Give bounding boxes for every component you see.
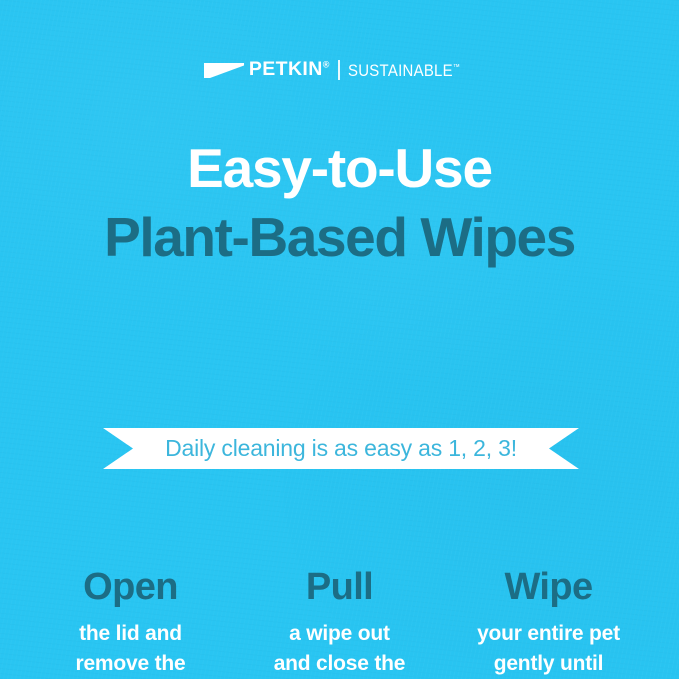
step-open: Open the lid and remove the fresh seal: [28, 565, 233, 679]
step-body: your entire pet gently until they’re cle…: [446, 619, 651, 679]
brand-lockup: PETKIN® SUSTAINABLE™: [0, 57, 679, 83]
step-body: a wipe out and close the lid tightly: [237, 619, 442, 679]
trademark-mark: ™: [453, 62, 460, 71]
promo-infographic: PETKIN® SUSTAINABLE™ Easy-to-Use Plant-B…: [0, 0, 679, 679]
step-wipe: Wipe your entire pet gently until they’r…: [446, 565, 651, 679]
brand-sub-name: SUSTAINABLE™: [348, 62, 460, 79]
headline-line-2: Plant-Based Wipes: [0, 204, 679, 270]
steps-row: Open the lid and remove the fresh seal P…: [28, 565, 651, 679]
headline-line-1: Easy-to-Use: [0, 138, 679, 198]
registered-mark: ®: [323, 60, 330, 70]
brand-name: PETKIN®: [249, 60, 330, 80]
step-body: the lid and remove the fresh seal: [28, 619, 233, 679]
brand-divider: [338, 60, 340, 80]
step-title: Open: [28, 565, 233, 609]
petkin-wing-icon: [204, 63, 244, 78]
step-pull: Pull a wipe out and close the lid tightl…: [237, 565, 442, 679]
step-title: Wipe: [446, 565, 651, 609]
page-title: Easy-to-Use Plant-Based Wipes: [0, 138, 679, 270]
ribbon-text: Daily cleaning is as easy as 1, 2, 3!: [165, 437, 517, 460]
step-title: Pull: [237, 565, 442, 609]
ribbon-banner: Daily cleaning is as easy as 1, 2, 3!: [103, 428, 579, 469]
